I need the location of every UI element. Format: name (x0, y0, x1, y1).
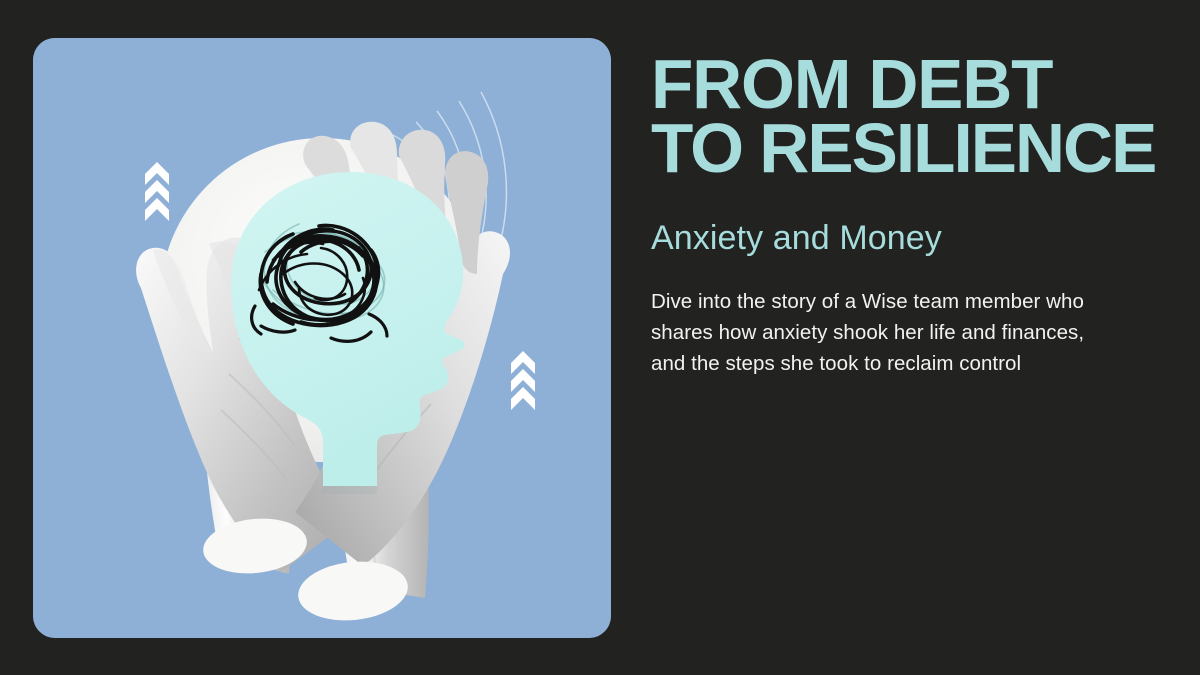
text-column: FROM DEBT TO RESILIENCE Anxiety and Mone… (651, 52, 1151, 380)
headline-line-1: FROM DEBT (651, 52, 1146, 116)
headline-line-2: TO RESILIENCE (651, 116, 1146, 180)
image-card (33, 38, 611, 638)
page-title: FROM DEBT TO RESILIENCE (651, 52, 1146, 181)
subtitle: Anxiety and Money (651, 181, 1151, 257)
slide-canvas: FROM DEBT TO RESILIENCE Anxiety and Mone… (0, 0, 1200, 675)
collage-artwork (33, 38, 611, 638)
body-copy: Dive into the story of a Wise team membe… (651, 257, 1096, 379)
